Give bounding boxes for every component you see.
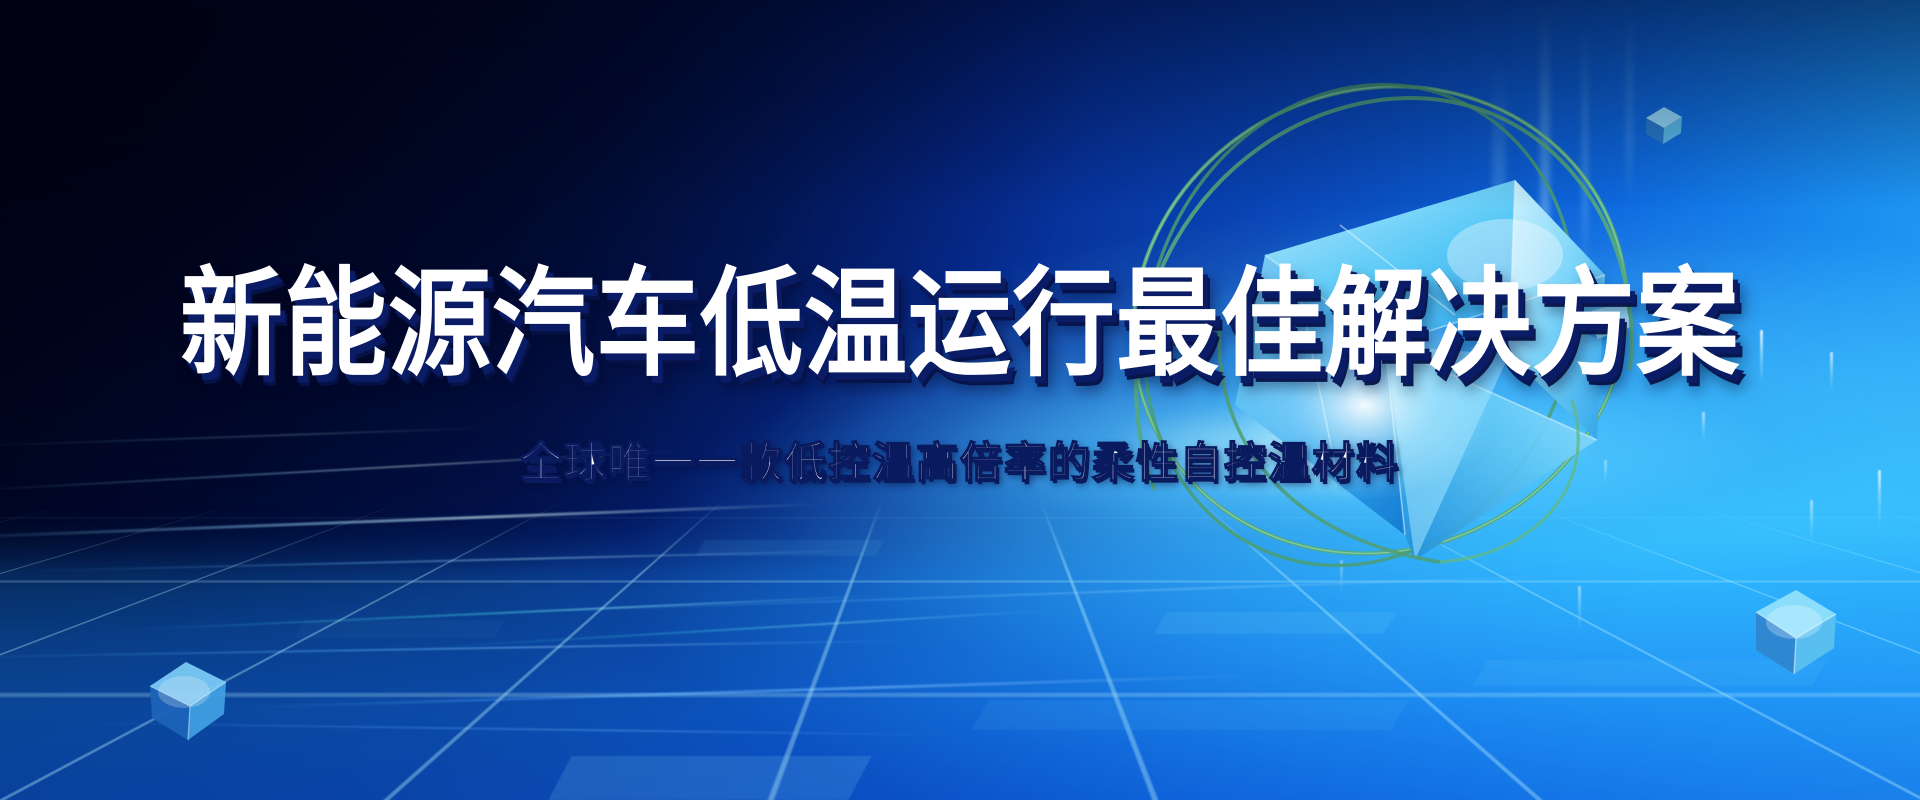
background-vignette [0,0,1920,800]
hero-banner: 新能源汽车低温运行最佳解决方案 全球唯一一款低控温高倍率的柔性自控温材料 [0,0,1920,800]
